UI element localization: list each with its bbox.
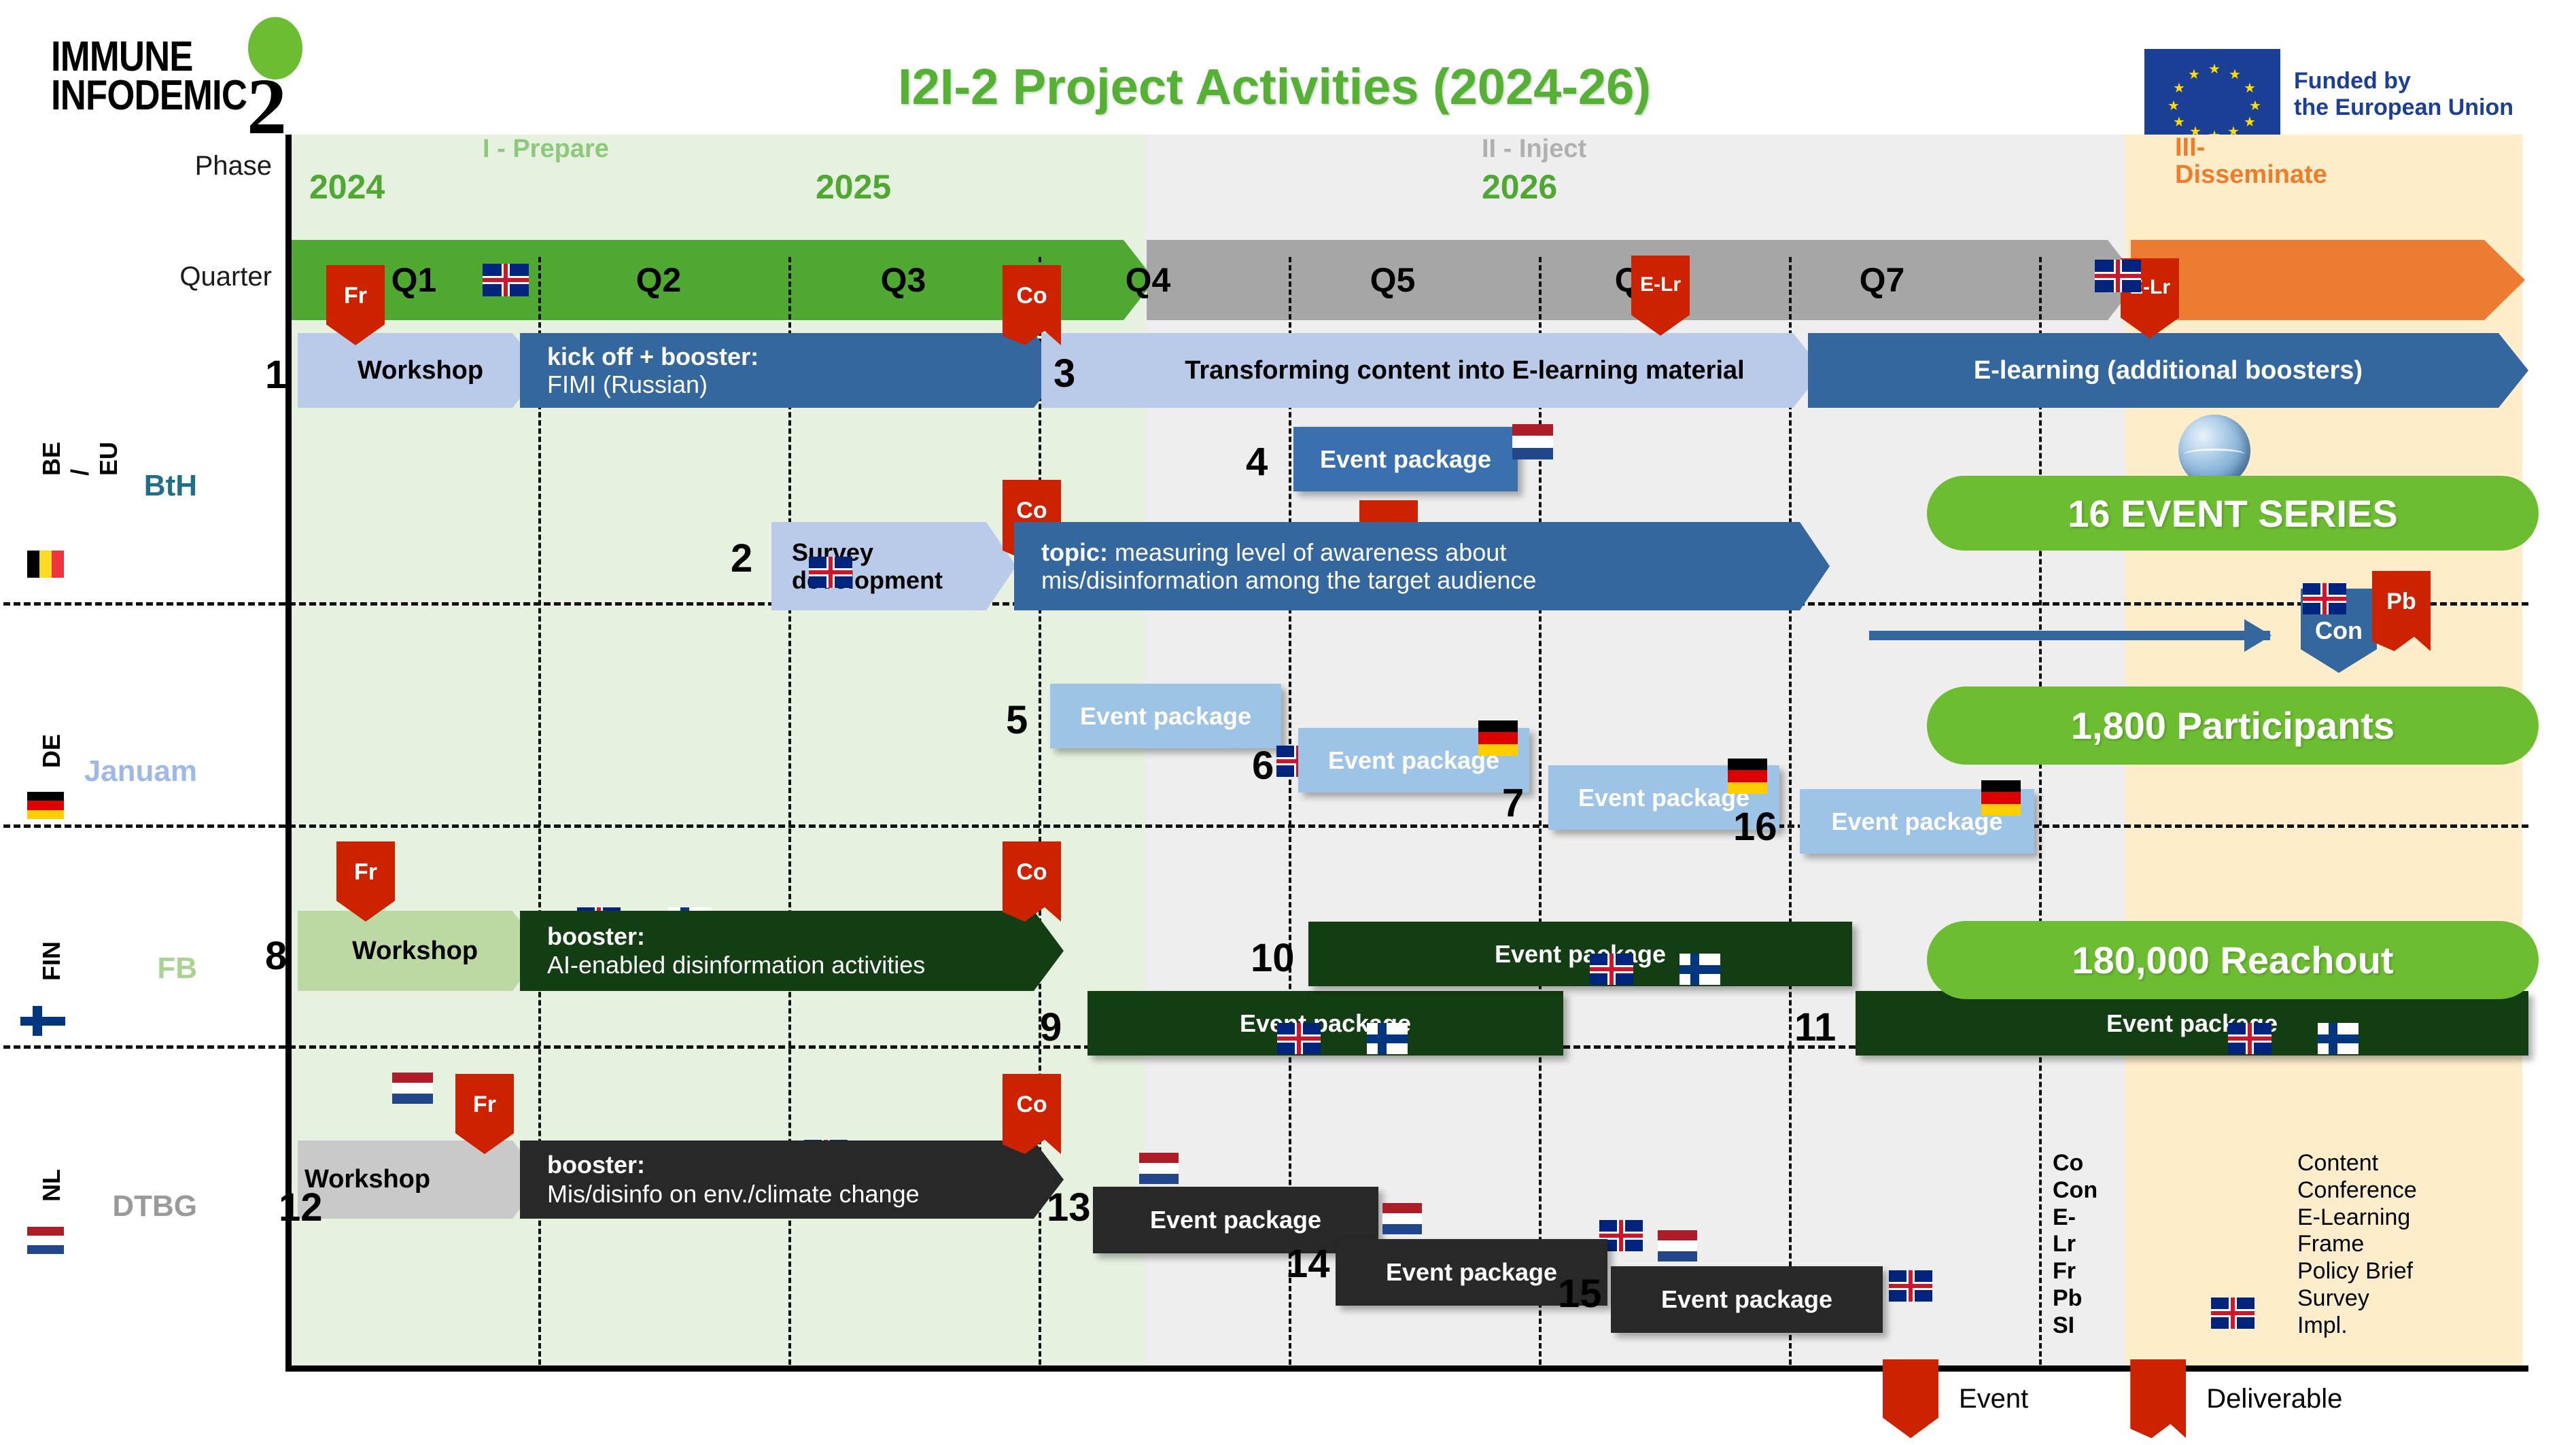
bar-number-5: 5: [1006, 697, 1028, 743]
eu-funding-text: Funded by the European Union: [2294, 68, 2513, 121]
quarter-header-bar: Q1 Q2 Q3 Q4 Q5 Q6 Q7 Q8: [292, 240, 2522, 320]
flag-netherlands-icon: [1658, 1230, 1697, 1261]
bar-number-16: 16: [1733, 804, 1777, 850]
bar-label: Workshop: [298, 356, 542, 385]
flag-uk-icon: [2303, 583, 2346, 614]
flag-uk-icon: [1277, 1023, 1321, 1054]
legend-label-deliverable: Deliverable: [2206, 1384, 2342, 1414]
bar-label: Event package: [1093, 1206, 1378, 1234]
bar-number-13: 13: [1047, 1185, 1091, 1230]
bar-label: Workshop: [298, 1165, 542, 1194]
row-label-group-fb: FIN FB: [0, 0, 45, 30]
marker-deliverable-pb[interactable]: Pb: [2372, 571, 2431, 651]
abbr-code: Co: [2053, 1150, 2098, 1177]
event-shield-icon: [1883, 1359, 1938, 1438]
bar-label-line1: booster:: [547, 1151, 1047, 1179]
logo-line1: IMMUNE: [51, 37, 242, 76]
flag-uk-icon: [2095, 260, 2141, 292]
bar-label: Transforming content into E-learning mat…: [1041, 356, 1823, 385]
flag-netherlands-icon: [1139, 1153, 1179, 1184]
bar-label: Event package: [1856, 1009, 2528, 1038]
phase-label-inject: II - Inject: [1482, 135, 1586, 164]
bar-event-package-5[interactable]: Event package: [1050, 684, 1281, 748]
eu-flag-icon: ★★ ★★ ★★ ★★ ★★ ★★: [2144, 49, 2280, 140]
eu-funding-line1: Funded by: [2294, 68, 2513, 94]
bar-label-line2: FIMI (Russian): [547, 370, 1047, 398]
quarter-label-q5: Q5: [1270, 240, 1515, 320]
bar-workshop-dtbg[interactable]: Workshop: [298, 1141, 542, 1219]
abbr-code: E-Lr: [2053, 1204, 2098, 1259]
flag-finland-icon: [2318, 1023, 2359, 1054]
bar-survey-development-2[interactable]: Survey development: [771, 522, 1016, 610]
abbr-meaning: Content: [2297, 1150, 2417, 1177]
bar-transforming-content-bth[interactable]: Transforming content into E-learning mat…: [1041, 333, 1823, 408]
quarter-label-q7: Q7: [1760, 240, 2004, 320]
bar-event-package-15[interactable]: Event package: [1611, 1266, 1883, 1333]
abbr-code: Con: [2053, 1177, 2098, 1204]
chart-y-axis: [285, 135, 292, 1372]
bar-survey-topic-2[interactable]: topic: measuring level of awareness abou…: [1014, 522, 1830, 610]
bar-number-1: 1: [265, 352, 287, 398]
bar-label: Event package: [1087, 1009, 1563, 1038]
marker-deliverable-co[interactable]: Co: [1003, 841, 1061, 922]
quarter-separator-6: [1789, 257, 1792, 1365]
year-label-2026: 2026: [1482, 167, 1557, 207]
bar-label-line2: mis/disinformation among the target audi…: [1041, 566, 1813, 594]
flag-germany-icon: [1478, 720, 1518, 756]
bar-label-rest: measuring level of awareness about: [1115, 538, 1506, 566]
bar-number-3: 3: [1054, 351, 1075, 396]
logo-line2: INFODEMIC: [51, 76, 242, 115]
bar-label: Event package: [1611, 1285, 1883, 1314]
callout-participants: 1,800 Participants: [1927, 686, 2539, 765]
bar-workshop-fb[interactable]: Workshop: [298, 911, 542, 991]
flag-finland-icon: [20, 1006, 65, 1036]
bar-number-10: 10: [1251, 935, 1295, 981]
connector-arrow: [1869, 631, 2270, 640]
year-label-2024: 2024: [309, 167, 385, 207]
marker-deliverable-co[interactable]: Co: [1003, 265, 1061, 345]
bar-elearning-boosters-bth[interactable]: E-learning (additional boosters): [1808, 333, 2528, 408]
flag-germany-icon: [1728, 759, 1767, 794]
flag-netherlands-icon: [1382, 1203, 1422, 1234]
bar-number-15: 15: [1558, 1271, 1602, 1317]
phase-axis-label: Phase: [41, 151, 272, 181]
quarter-label-q4: Q4: [1026, 240, 1270, 320]
bar-event-package-11[interactable]: Event package: [1856, 991, 2528, 1056]
page-title: I2I-2 Project Activities (2024-26): [612, 58, 1937, 116]
phase-label-disseminate: III-Disseminate: [2175, 135, 2331, 189]
flag-finland-icon: [1367, 1023, 1408, 1054]
quarter-axis-label: Quarter: [41, 262, 272, 292]
quarter-label-q2: Q2: [536, 240, 781, 320]
bar-label: E-learning (additional boosters): [1808, 356, 2528, 385]
bar-label-line2: AI-enabled disinformation activities: [547, 951, 1047, 979]
row-separator-2: [0, 824, 2528, 828]
partner-name-fb: FB: [0, 952, 197, 986]
bar-number-4: 4: [1246, 439, 1268, 485]
bar-label: Event package: [1293, 445, 1518, 474]
abbreviation-meanings: Content Conference E-Learning Frame Poli…: [2297, 1150, 2417, 1339]
abbr-meaning: Conference: [2297, 1177, 2417, 1204]
bar-kickoff-booster-bth[interactable]: kick off + booster: FIMI (Russian): [520, 333, 1064, 408]
bar-label: Event package: [1050, 702, 1281, 731]
callout-reachout: 180,000 Reachout: [1927, 921, 2539, 999]
bar-number-2: 2: [731, 536, 752, 581]
flag-uk-icon: [1590, 954, 1633, 985]
quarter-separator-5: [1539, 257, 1542, 1365]
year-label-2025: 2025: [816, 167, 891, 207]
abbreviation-codes: Co Con E-Lr Fr Pb SI: [2053, 1150, 2098, 1339]
bar-event-package-10[interactable]: Event package: [1308, 922, 1852, 986]
bar-label-line1: topic: measuring level of awareness abou…: [1041, 538, 1813, 566]
phase-label-prepare: I - Prepare: [483, 135, 609, 164]
bar-label-line1: kick off + booster:: [547, 343, 1047, 370]
flag-finland-icon: [1679, 954, 1720, 985]
bar-number-11: 11: [1794, 1005, 1836, 1050]
flag-netherlands-icon: [1512, 424, 1553, 459]
bar-booster-fb[interactable]: booster: AI-enabled disinformation activ…: [520, 911, 1064, 991]
bar-label: Event package: [1308, 940, 1852, 969]
abbr-meaning: Frame: [2297, 1231, 2417, 1258]
abbr-code: Fr: [2053, 1258, 2098, 1285]
bar-event-package-9[interactable]: Event package: [1087, 991, 1563, 1056]
flag-germany-icon: [27, 792, 64, 819]
flag-uk-icon: [483, 264, 529, 296]
shape-legend: Event Deliverable: [1883, 1359, 2342, 1438]
bar-number-14: 14: [1286, 1241, 1330, 1287]
flag-uk-icon: [1889, 1270, 1932, 1302]
deliverable-shield-icon: [2130, 1359, 2186, 1438]
flag-netherlands-icon: [27, 1227, 64, 1254]
bar-number-7: 7: [1502, 780, 1524, 826]
flag-uk-icon: [2228, 1023, 2272, 1054]
bar-workshop-bth[interactable]: Workshop: [298, 333, 542, 408]
bar-event-package-4[interactable]: Event package: [1293, 427, 1518, 491]
bar-label-line1: booster:: [547, 922, 1047, 951]
quarter-separator-7: [2039, 257, 2042, 1365]
bar-number-8: 8: [265, 933, 287, 979]
eu-funding-block: ★★ ★★ ★★ ★★ ★★ ★★ Funded by the European…: [2144, 49, 2513, 140]
marker-deliverable-co[interactable]: Co: [1003, 1074, 1061, 1154]
eu-funding-line2: the European Union: [2294, 94, 2513, 121]
abbr-code: Pb: [2053, 1285, 2098, 1312]
partner-name-bth: BtH: [0, 469, 197, 503]
immune-infodemic-logo: IMMUNE INFODEMIC 2: [51, 37, 275, 139]
abbr-code: SI: [2053, 1312, 2098, 1340]
partner-name-dtbg: DTBG: [0, 1189, 197, 1223]
quarter-label-q3: Q3: [781, 240, 1026, 320]
bar-booster-dtbg[interactable]: booster: Mis/disinfo on env./climate cha…: [520, 1141, 1064, 1219]
bar-number-9: 9: [1040, 1005, 1062, 1050]
flag-belgium-icon: [27, 551, 64, 578]
bar-number-6: 6: [1252, 743, 1274, 788]
flag-netherlands-icon: [392, 1073, 433, 1104]
abbr-meaning: E-Learning: [2297, 1204, 2417, 1232]
legend-label-event: Event: [1959, 1384, 2028, 1414]
flag-germany-icon: [1981, 780, 2021, 816]
abbr-meaning: Policy Brief: [2297, 1258, 2417, 1285]
partner-name-januam: Januam: [0, 754, 197, 788]
bar-label: Workshop: [298, 937, 542, 966]
logo-mark-2: 2: [247, 75, 287, 139]
bar-label-prefix: topic:: [1041, 538, 1108, 566]
flag-uk-icon: [809, 557, 852, 588]
bar-label-line2: Mis/disinfo on env./climate change: [547, 1180, 1047, 1208]
callout-event-series: 16 EVENT SERIES: [1927, 476, 2539, 551]
flag-uk-icon: [2211, 1298, 2255, 1329]
abbr-meaning: Survey Impl.: [2297, 1285, 2417, 1340]
